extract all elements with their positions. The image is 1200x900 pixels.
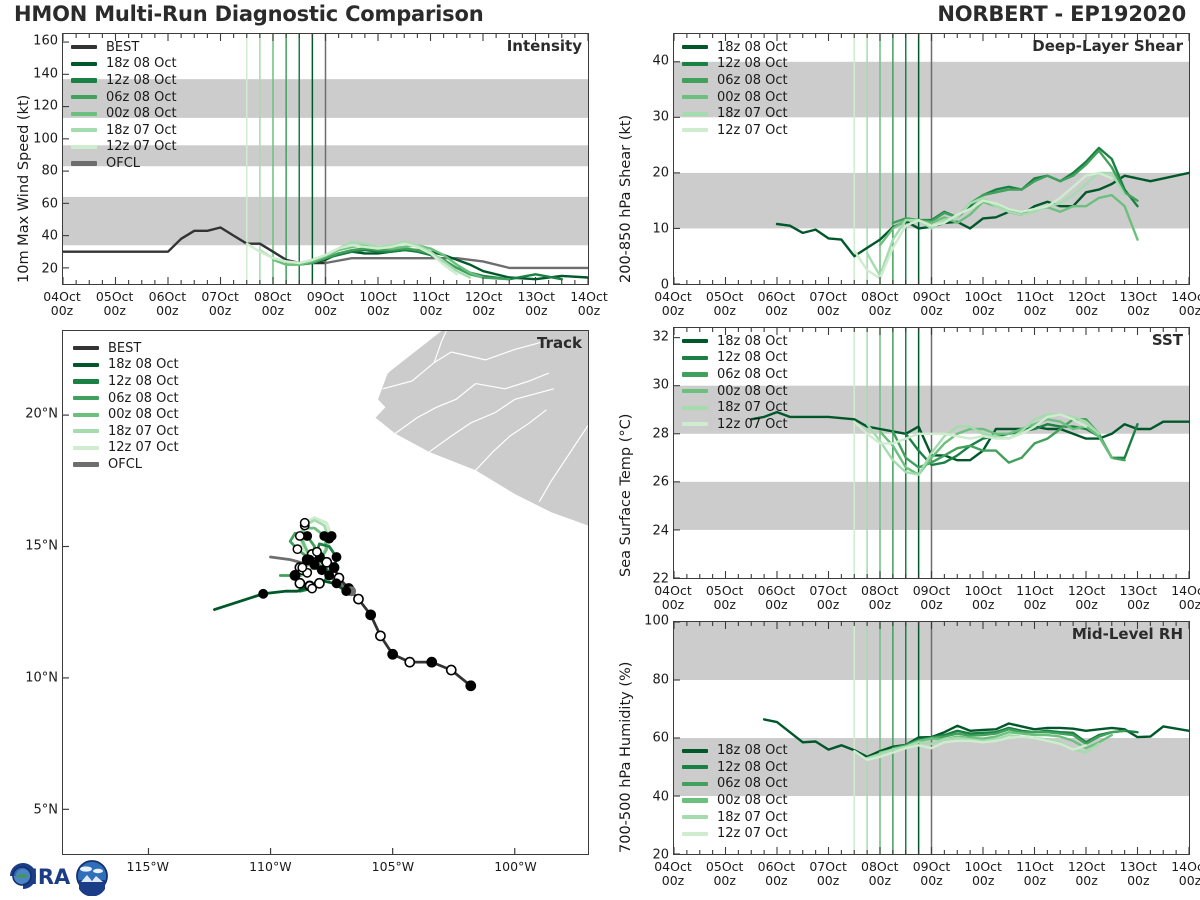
x-tick-label: 14Oct00z	[570, 290, 608, 318]
track-point-marker	[325, 571, 333, 579]
track-point-marker	[466, 681, 475, 690]
panel-track-map[interactable]: Track BEST18z 08 Oct12z 08 Oct06z 08 Oct…	[62, 330, 589, 855]
panel-rh: Mid-Level RH 18z 08 Oct12z 08 Oct06z 08 …	[673, 621, 1190, 855]
rh-legend[interactable]: 18z 08 Oct12z 08 Oct06z 08 Oct00z 08 Oct…	[682, 742, 788, 842]
legend-swatch-icon	[73, 363, 99, 367]
intensity-y-axis-label: 10m Max Wind Speed (kt)	[16, 95, 32, 283]
y-tick-label: 60	[652, 731, 669, 746]
legend-item-run_06z08[interactable]: 06z 08 Oct	[73, 390, 179, 407]
track-point-marker	[366, 610, 375, 619]
track-point-marker	[354, 594, 363, 603]
y-tick-label: 40	[652, 54, 669, 69]
y-tick-label: 40	[652, 789, 669, 804]
legend-item-run_12z07[interactable]: 12z 07 Oct	[682, 122, 788, 139]
x-tick-label: 07Oct00z	[809, 584, 847, 612]
x-tick-label: 09Oct00z	[913, 290, 951, 318]
y-tick-label: 10	[652, 222, 669, 237]
x-tick-label: 10Oct00z	[964, 860, 1002, 888]
legend-item-ofcl[interactable]: OFCL	[73, 456, 179, 473]
legend-swatch-icon	[682, 62, 708, 66]
legend-label: 00z 08 Oct	[108, 407, 179, 422]
legend-item-run_00z08[interactable]: 00z 08 Oct	[73, 406, 179, 423]
legend-item-run_18z08[interactable]: 18z 08 Oct	[682, 39, 788, 56]
track-point-marker	[313, 548, 321, 556]
legend-label: 18z 07 Oct	[717, 400, 788, 415]
page-title-right: NORBERT - EP192020	[937, 2, 1186, 26]
track-point-marker	[447, 665, 456, 674]
legend-label: 00z 08 Oct	[717, 90, 788, 105]
legend-label: 12z 08 Oct	[717, 350, 788, 365]
legend-swatch-icon	[73, 379, 99, 383]
legend-label: 12z 08 Oct	[717, 56, 788, 71]
y-tick-label: 40	[41, 229, 58, 244]
x-tick-label: 04Oct00z	[654, 860, 692, 888]
legend-item-run_18z08[interactable]: 18z 08 Oct	[682, 333, 788, 350]
shear-y-axis-label: 200-850 hPa Shear (kt)	[618, 115, 634, 283]
x-tick-label: 10Oct00z	[359, 290, 397, 318]
legend-swatch-icon	[71, 161, 97, 165]
x-tick-label: 08Oct00z	[861, 860, 899, 888]
x-tick-label: 11Oct00z	[1016, 584, 1054, 612]
legend-label: 18z 07 Oct	[717, 106, 788, 121]
map-y-tick-label: 5°N	[34, 803, 59, 818]
legend-swatch-icon	[73, 446, 99, 450]
track-point-marker	[298, 563, 306, 571]
x-tick-label: 05Oct00z	[706, 860, 744, 888]
intensity-legend[interactable]: BEST18z 08 Oct12z 08 Oct06z 08 Oct00z 08…	[71, 39, 177, 172]
track-point-marker	[427, 658, 436, 667]
y-tick-label: 26	[652, 475, 669, 490]
legend-label: 18z 08 Oct	[717, 334, 788, 349]
legend-item-run_00z08[interactable]: 00z 08 Oct	[682, 792, 788, 809]
y-tick-label: 32	[652, 329, 669, 344]
x-tick-label: 12Oct00z	[1068, 584, 1106, 612]
legend-label: 06z 08 Oct	[108, 391, 179, 406]
legend-swatch-icon	[682, 339, 708, 343]
legend-swatch-icon	[682, 782, 708, 786]
legend-item-run_00z08[interactable]: 00z 08 Oct	[682, 383, 788, 400]
track-point-marker	[388, 650, 397, 659]
legend-swatch-icon	[71, 145, 97, 149]
track-line	[214, 581, 346, 610]
shear-x-ticks: 04Oct00z05Oct00z06Oct00z07Oct00z08Oct00z…	[673, 288, 1190, 322]
track-point-marker	[308, 584, 316, 592]
map-x-tick-label: 115°W	[127, 860, 169, 874]
x-tick-label: 12Oct00z	[1068, 860, 1106, 888]
y-tick-label: 20	[41, 261, 58, 276]
legend-item-run_00z08[interactable]: 00z 08 Oct	[71, 105, 177, 122]
legend-label: 18z 07 Oct	[717, 810, 788, 825]
shear-panel-label: Deep-Layer Shear	[1032, 37, 1183, 55]
x-tick-label: 08Oct00z	[861, 290, 899, 318]
x-tick-label: 09Oct00z	[913, 860, 951, 888]
y-tick-label: 60	[41, 196, 58, 211]
legend-item-run_18z08[interactable]: 18z 08 Oct	[682, 742, 788, 759]
intensity-x-ticks: 04Oct00z05Oct00z06Oct00z07Oct00z08Oct00z…	[62, 288, 589, 322]
legend-label: 00z 08 Oct	[106, 106, 177, 121]
legend-label: 12z 07 Oct	[717, 826, 788, 841]
legend-swatch-icon	[73, 413, 99, 417]
legend-swatch-icon	[73, 346, 99, 350]
legend-item-run_18z07[interactable]: 18z 07 Oct	[682, 399, 788, 416]
landmass-mexico	[376, 331, 588, 560]
x-tick-label: 05Oct00z	[706, 584, 744, 612]
legend-item-run_06z08[interactable]: 06z 08 Oct	[71, 89, 177, 106]
legend-label: OFCL	[108, 457, 142, 472]
legend-label: 18z 07 Oct	[108, 424, 179, 439]
legend-swatch-icon	[71, 112, 97, 116]
track-point-marker	[301, 519, 309, 527]
legend-item-run_12z07[interactable]: 12z 07 Oct	[682, 416, 788, 433]
x-tick-label: 14Oct00z	[1171, 860, 1200, 888]
legend-item-ofcl[interactable]: OFCL	[71, 155, 177, 172]
legend-swatch-icon	[682, 356, 708, 360]
legend-label: 18z 08 Oct	[108, 357, 179, 372]
x-tick-label: 07Oct00z	[809, 290, 847, 318]
x-tick-label: 13Oct00z	[1120, 290, 1158, 318]
legend-swatch-icon	[71, 128, 97, 132]
track-point-marker	[405, 658, 414, 667]
legend-swatch-icon	[682, 422, 708, 426]
x-tick-label: 13Oct00z	[1120, 860, 1158, 888]
panel-intensity: Intensity BEST18z 08 Oct12z 08 Oct06z 08…	[62, 33, 589, 285]
x-tick-label: 11Oct00z	[1016, 290, 1054, 318]
rh-panel-label: Mid-Level RH	[1072, 625, 1183, 643]
y-tick-label: 80	[652, 672, 669, 687]
legend-swatch-icon	[682, 765, 708, 769]
sst-y-axis-label: Sea Surface Temp (°C)	[618, 414, 634, 577]
legend-swatch-icon	[682, 389, 708, 393]
legend-item-run_06z08[interactable]: 06z 08 Oct	[682, 366, 788, 383]
legend-swatch-icon	[73, 396, 99, 400]
track-point-marker	[293, 545, 301, 553]
legend-label: BEST	[106, 40, 139, 55]
y-tick-label: 30	[652, 378, 669, 393]
legend-item-run_12z08[interactable]: 12z 08 Oct	[682, 759, 788, 776]
svg-text:IRA: IRA	[30, 865, 71, 889]
legend-item-run_12z08[interactable]: 12z 08 Oct	[682, 350, 788, 367]
x-tick-label: 06Oct00z	[758, 860, 796, 888]
x-tick-label: 04Oct00z	[43, 290, 81, 318]
legend-label: 12z 07 Oct	[717, 123, 788, 138]
y-tick-label: 24	[652, 523, 669, 538]
legend-item-run_18z08[interactable]: 18z 08 Oct	[71, 56, 177, 73]
x-tick-label: 09Oct00z	[307, 290, 345, 318]
track-point-marker	[327, 532, 335, 540]
legend-swatch-icon	[71, 45, 97, 49]
track-point-marker	[295, 579, 304, 588]
legend-swatch-icon	[71, 78, 97, 82]
legend-label: 06z 08 Oct	[717, 776, 788, 791]
track-point-marker	[259, 590, 267, 598]
legend-label: 18z 08 Oct	[717, 40, 788, 55]
track-x-ticks: 115°W110°W105°W100°W	[62, 858, 589, 878]
legend-swatch-icon	[682, 45, 708, 49]
track-point-marker	[332, 579, 340, 587]
y-tick-label: 140	[33, 66, 58, 81]
legend-swatch-icon	[682, 749, 708, 753]
legend-item-run_18z07[interactable]: 18z 07 Oct	[682, 105, 788, 122]
x-tick-label: 14Oct00z	[1171, 584, 1200, 612]
rh-x-ticks: 04Oct00z05Oct00z06Oct00z07Oct00z08Oct00z…	[673, 858, 1190, 892]
legend-label: 12z 08 Oct	[106, 73, 177, 88]
track-point-marker	[318, 566, 326, 574]
panel-sst: SST 18z 08 Oct12z 08 Oct06z 08 Oct00z 08…	[673, 327, 1190, 579]
sst-legend[interactable]: 18z 08 Oct12z 08 Oct06z 08 Oct00z 08 Oct…	[682, 333, 788, 433]
legend-item-run_00z08[interactable]: 00z 08 Oct	[682, 89, 788, 106]
track-legend[interactable]: BEST18z 08 Oct12z 08 Oct06z 08 Oct00z 08…	[73, 340, 179, 473]
legend-swatch-icon	[682, 832, 708, 836]
legend-item-run_18z08[interactable]: 18z 08 Oct	[73, 357, 179, 374]
x-tick-label: 11Oct00z	[1016, 860, 1054, 888]
x-tick-label: 07Oct00z	[809, 860, 847, 888]
y-tick-label: 160	[33, 34, 58, 49]
y-tick-label: 30	[652, 110, 669, 125]
y-tick-label: 120	[33, 99, 58, 114]
legend-swatch-icon	[71, 95, 97, 99]
map-y-tick-label: 15°N	[25, 539, 58, 554]
legend-item-run_12z08[interactable]: 12z 08 Oct	[682, 56, 788, 73]
legend-item-run_18z07[interactable]: 18z 07 Oct	[682, 809, 788, 826]
x-tick-label: 10Oct00z	[964, 290, 1002, 318]
x-tick-label: 09Oct00z	[913, 584, 951, 612]
sst-panel-label: SST	[1152, 331, 1183, 349]
legend-swatch-icon	[682, 406, 708, 410]
y-tick-label: 28	[652, 426, 669, 441]
x-tick-label: 11Oct00z	[412, 290, 450, 318]
panel-shear: Deep-Layer Shear 18z 08 Oct12z 08 Oct06z…	[673, 33, 1190, 285]
map-y-tick-label: 20°N	[25, 407, 58, 422]
x-tick-label: 07Oct00z	[201, 290, 239, 318]
x-tick-label: 04Oct00z	[654, 584, 692, 612]
x-tick-label: 05Oct00z	[706, 290, 744, 318]
legend-item-run_12z07[interactable]: 12z 07 Oct	[71, 139, 177, 156]
x-tick-label: 14Oct00z	[1171, 290, 1200, 318]
x-tick-label: 08Oct00z	[861, 584, 899, 612]
legend-swatch-icon	[682, 372, 708, 376]
track-point-marker	[305, 555, 313, 563]
x-tick-label: 10Oct00z	[964, 584, 1002, 612]
legend-label: 12z 08 Oct	[717, 760, 788, 775]
legend-label: 18z 08 Oct	[717, 743, 788, 758]
legend-swatch-icon	[682, 78, 708, 82]
track-point-marker	[296, 532, 304, 540]
map-x-tick-label: 110°W	[249, 860, 291, 874]
legend-item-run_12z07[interactable]: 12z 07 Oct	[682, 825, 788, 842]
legend-item-run_12z08[interactable]: 12z 08 Oct	[73, 373, 179, 390]
track-point-marker	[342, 587, 350, 595]
legend-label: 12z 07 Oct	[108, 440, 179, 455]
legend-item-best[interactable]: BEST	[73, 340, 179, 357]
cira-logo: IRA	[6, 856, 110, 896]
y-tick-label: 20	[652, 166, 669, 181]
legend-item-run_06z08[interactable]: 06z 08 Oct	[682, 72, 788, 89]
legend-swatch-icon	[682, 128, 708, 132]
legend-item-best[interactable]: BEST	[71, 39, 177, 56]
legend-item-run_06z08[interactable]: 06z 08 Oct	[682, 776, 788, 793]
legend-item-run_12z07[interactable]: 12z 07 Oct	[73, 440, 179, 457]
legend-label: 06z 08 Oct	[717, 73, 788, 88]
x-tick-label: 06Oct00z	[149, 290, 187, 318]
x-tick-label: 08Oct00z	[254, 290, 292, 318]
legend-label: OFCL	[106, 156, 140, 171]
legend-item-run_18z07[interactable]: 18z 07 Oct	[73, 423, 179, 440]
legend-swatch-icon	[73, 462, 99, 466]
legend-item-run_12z08[interactable]: 12z 08 Oct	[71, 72, 177, 89]
track-point-marker	[332, 553, 340, 561]
x-tick-label: 13Oct00z	[518, 290, 556, 318]
legend-item-run_18z07[interactable]: 18z 07 Oct	[71, 122, 177, 139]
y-tick-label: 80	[41, 164, 58, 179]
legend-label: 12z 07 Oct	[106, 139, 177, 154]
y-tick-label: 100	[644, 614, 669, 629]
legend-label: 18z 07 Oct	[106, 123, 177, 138]
sst-x-ticks: 04Oct00z05Oct00z06Oct00z07Oct00z08Oct00z…	[673, 582, 1190, 616]
x-tick-label: 04Oct00z	[654, 290, 692, 318]
legend-label: 12z 08 Oct	[108, 374, 179, 389]
intensity-panel-label: Intensity	[507, 37, 582, 55]
legend-label: BEST	[108, 341, 141, 356]
x-tick-label: 13Oct00z	[1120, 584, 1158, 612]
legend-swatch-icon	[682, 798, 708, 802]
x-tick-label: 12Oct00z	[1068, 290, 1106, 318]
y-tick-label: 100	[33, 131, 58, 146]
page-title-left: HMON Multi-Run Diagnostic Comparison	[14, 2, 483, 26]
x-tick-label: 05Oct00z	[96, 290, 134, 318]
x-tick-label: 12Oct00z	[465, 290, 503, 318]
track-panel-label: Track	[537, 334, 582, 352]
legend-label: 06z 08 Oct	[106, 90, 177, 105]
legend-swatch-icon	[682, 95, 708, 99]
legend-label: 00z 08 Oct	[717, 384, 788, 399]
shear-legend[interactable]: 18z 08 Oct12z 08 Oct06z 08 Oct00z 08 Oct…	[682, 39, 788, 139]
legend-label: 00z 08 Oct	[717, 793, 788, 808]
x-tick-label: 06Oct00z	[758, 290, 796, 318]
map-x-tick-label: 105°W	[372, 860, 414, 874]
rh-y-axis-label: 700-500 hPa Humidity (%)	[618, 662, 634, 853]
legend-swatch-icon	[682, 815, 708, 819]
map-x-tick-label: 100°W	[494, 860, 536, 874]
legend-label: 18z 08 Oct	[106, 56, 177, 71]
legend-swatch-icon	[682, 112, 708, 116]
map-y-tick-label: 10°N	[25, 671, 58, 686]
legend-label: 06z 08 Oct	[717, 367, 788, 382]
x-tick-label: 06Oct00z	[758, 584, 796, 612]
legend-swatch-icon	[73, 429, 99, 433]
track-point-marker	[376, 631, 385, 640]
legend-label: 12z 07 Oct	[717, 417, 788, 432]
legend-swatch-icon	[71, 62, 97, 66]
